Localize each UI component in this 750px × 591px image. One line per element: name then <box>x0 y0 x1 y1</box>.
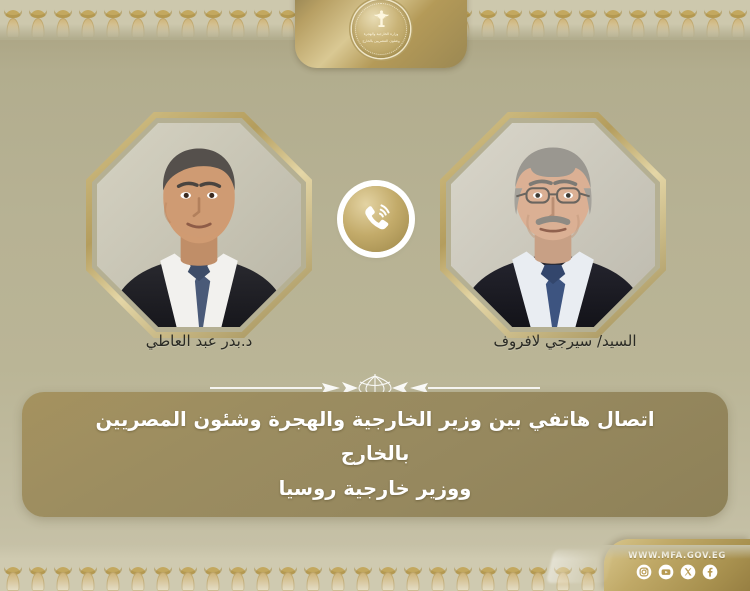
lotus-motif <box>400 545 425 591</box>
lotus-motif <box>125 0 150 40</box>
lotus-motif <box>75 0 100 40</box>
lotus-motif <box>225 0 250 40</box>
lotus-motif <box>600 0 625 40</box>
lotus-motif <box>200 0 225 40</box>
eagle-of-saladin-icon <box>373 9 390 30</box>
headline-line-2: ووزير خارجية روسيا <box>66 472 684 506</box>
lotus-motif <box>550 0 575 40</box>
lotus-motif <box>25 545 50 591</box>
instagram-icon[interactable] <box>636 564 652 580</box>
lotus-motif <box>0 545 25 591</box>
lotus-motif <box>50 545 75 591</box>
lotus-motif <box>450 545 475 591</box>
headline-text: اتصال هاتفي بين وزير الخارجية والهجرة وش… <box>22 403 728 505</box>
lotus-motif <box>650 0 675 40</box>
lotus-motif <box>225 545 250 591</box>
x-twitter-icon[interactable] <box>680 564 696 580</box>
portrait-badr-abdelatty <box>97 123 301 327</box>
lotus-motif <box>250 545 275 591</box>
lotus-motif <box>525 545 550 591</box>
lotus-motif <box>0 0 25 40</box>
lotus-motif <box>125 545 150 591</box>
lotus-motif <box>150 0 175 40</box>
lotus-motif <box>25 0 50 40</box>
lotus-motif <box>250 0 275 40</box>
lotus-motif <box>500 545 525 591</box>
lotus-motif <box>375 545 400 591</box>
lotus-motif <box>75 545 100 591</box>
lotus-motif <box>100 0 125 40</box>
caption-right: السيد/ سيرجي لافروف <box>415 332 715 350</box>
lotus-motif <box>175 0 200 40</box>
lotus-motif <box>500 0 525 40</box>
lotus-motif <box>475 0 500 40</box>
headline-banner: اتصال هاتفي بين وزير الخارجية والهجرة وش… <box>22 392 728 517</box>
portrait-card-left <box>86 112 312 338</box>
lotus-motif <box>525 0 550 40</box>
lotus-motif <box>175 545 200 591</box>
facebook-icon[interactable] <box>702 564 718 580</box>
lotus-motif <box>300 545 325 591</box>
social-links <box>636 564 718 580</box>
lotus-motif <box>625 0 650 40</box>
lotus-motif <box>100 545 125 591</box>
lotus-motif <box>350 545 375 591</box>
lotus-motif <box>725 0 750 40</box>
seal-caption-sub: وشئون المصريين بالخارج <box>362 39 399 44</box>
lotus-motif <box>200 545 225 591</box>
lotus-motif <box>475 545 500 591</box>
portrait-card-right <box>440 112 666 338</box>
lotus-motif <box>575 545 600 591</box>
caption-left: د.بدر عبد العاطي <box>49 332 349 350</box>
lotus-motif <box>275 545 300 591</box>
youtube-icon[interactable] <box>658 564 674 580</box>
lotus-motif <box>425 545 450 591</box>
egypt-mfa-emblem: وزارة الخارجية والهجرة وشئون المصريين با… <box>352 0 410 58</box>
phone-call-icon <box>343 186 409 252</box>
lotus-motif <box>550 545 575 591</box>
ministry-logo-plaque: وزارة الخارجية والهجرة وشئون المصريين با… <box>295 0 467 68</box>
lotus-motif <box>325 545 350 591</box>
headline-line-1: اتصال هاتفي بين وزير الخارجية والهجرة وش… <box>95 408 654 465</box>
social-media-card: وزارة الخارجية والهجرة وشئون المصريين با… <box>0 0 750 591</box>
lotus-motif <box>675 0 700 40</box>
lotus-motif <box>700 0 725 40</box>
lotus-motif <box>150 545 175 591</box>
lotus-motif <box>50 0 75 40</box>
lotus-motif <box>575 0 600 40</box>
seal-caption: وزارة الخارجية والهجرة <box>364 32 399 37</box>
